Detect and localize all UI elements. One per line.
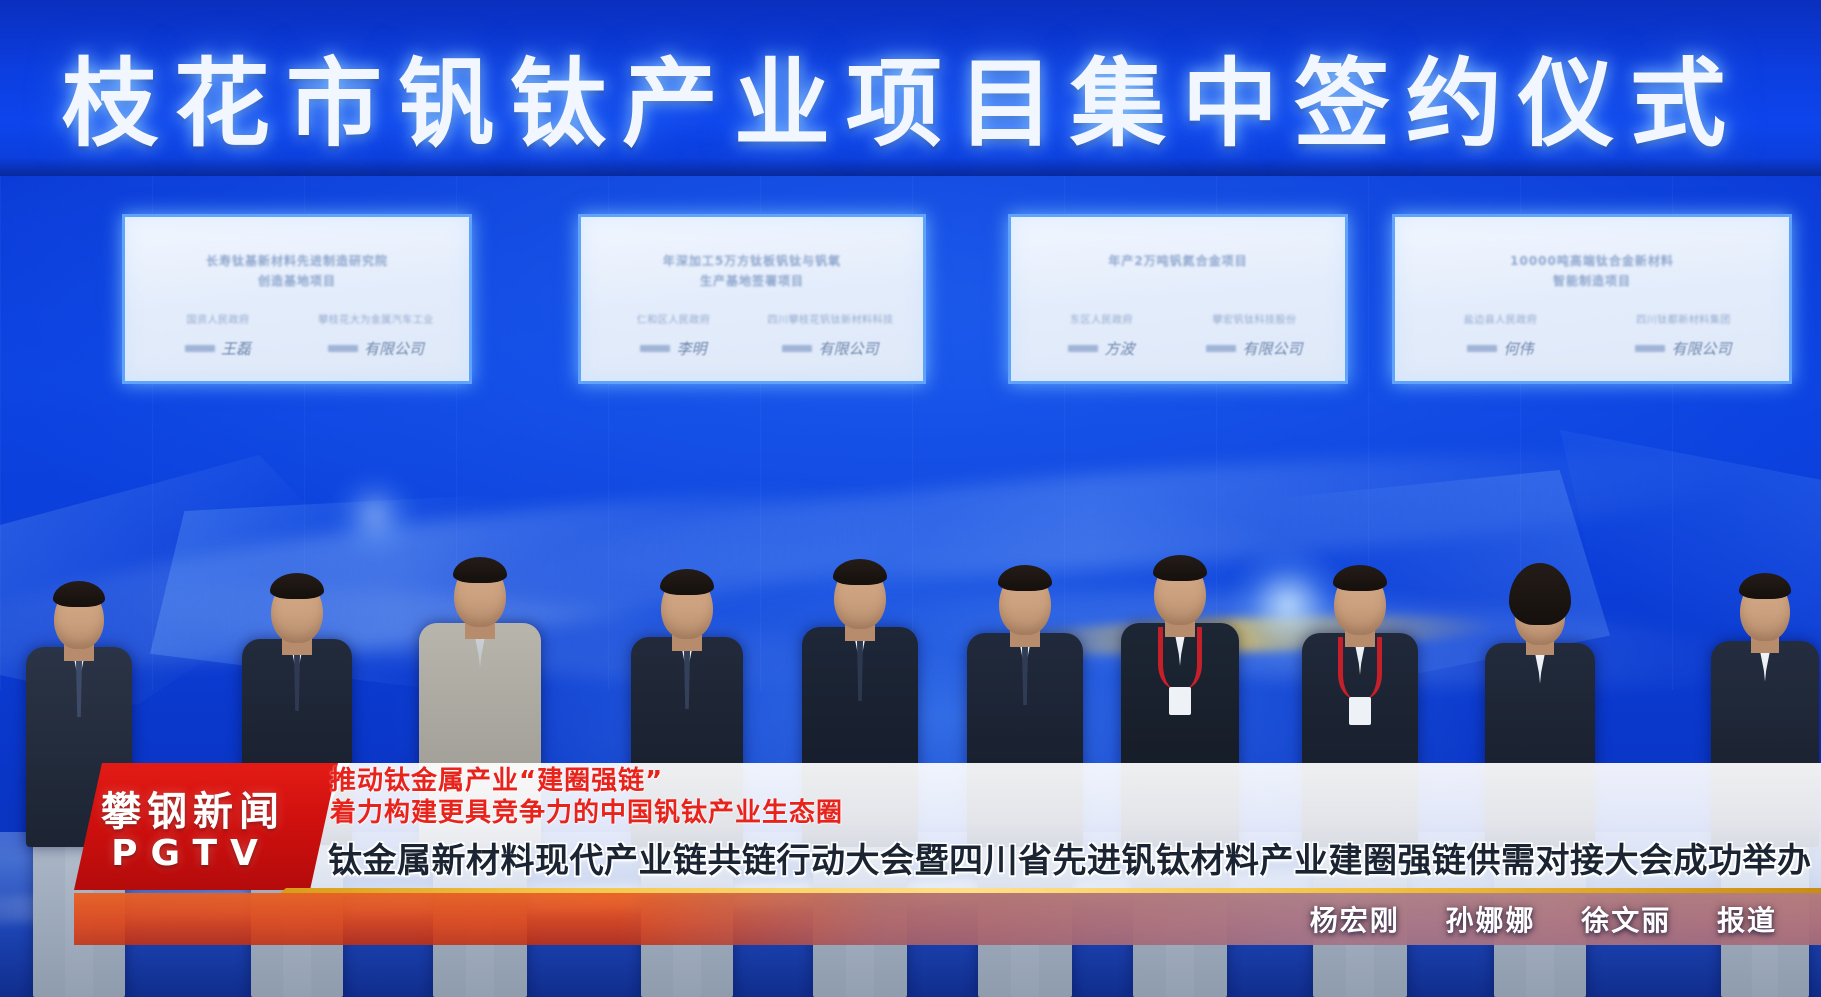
- certificate-party-left: 盐边县人民政府 何伟: [1420, 311, 1581, 359]
- participant-hair: [453, 557, 507, 583]
- kicker-line-2: 着力构建更具竞争力的中国钒钛产业生态圈: [330, 797, 1810, 829]
- participant-hair: [660, 569, 714, 595]
- certificate-party-left: 仁和区人民政府 李明: [604, 311, 742, 359]
- certificate-signatures: 仁和区人民政府 李明 四川攀枝花钒钛新材料科技 有限公司: [581, 311, 923, 359]
- certificate-title: 10000吨高端钛合金新材料 智能制造项目: [1395, 251, 1789, 291]
- participant-tie: [849, 639, 871, 701]
- broadcast-frame: 枝花市钒钛产业项目集中签约仪式 长寿钛基新材料先进制造研究院 创造基地项目 国资…: [0, 0, 1821, 997]
- participant-hair: [833, 559, 887, 585]
- certificate-party-right: 攀枝花大为金属汽车工业 有限公司: [306, 311, 445, 359]
- stamp-mark-icon: [1635, 345, 1665, 352]
- reporter-credits: 杨宏刚 孙娜娜 徐文丽 报道: [1310, 899, 1777, 939]
- stamp-mark-icon: [328, 345, 358, 352]
- stamp-mark-icon: [640, 345, 670, 352]
- participant-hair: [270, 573, 324, 599]
- participant-hair: [1509, 563, 1571, 625]
- certificate-party-left: 东区人民政府 方波: [1034, 311, 1169, 359]
- reporter-name-2: 孙娜娜: [1445, 904, 1535, 937]
- stage-banner-title: 枝花市钒钛产业项目集中签约仪式: [0, 26, 1821, 165]
- certificate-signatures: 东区人民政府 方波 攀宏钒钛科技股份 有限公司: [1011, 311, 1345, 359]
- stamp-mark-icon: [782, 345, 812, 352]
- name-badge: [1169, 687, 1191, 715]
- participant-hair: [998, 565, 1052, 591]
- certificate-board: 年产2万吨钒氮合金项目 东区人民政府 方波 攀宏钒钛科技股份 有限公司: [1008, 214, 1348, 384]
- certificate-title: 长寿钛基新材料先进制造研究院 创造基地项目: [125, 251, 469, 291]
- channel-brand-label: 攀钢新闻: [74, 779, 312, 837]
- certificate-party-right: 四川钛都新材料集团 有限公司: [1603, 311, 1764, 359]
- lower-third-graphic: 攀钢新闻 PGTV 推动钛金属产业“建圈强链” 着力构建更具竞争力的中国钒钛产业…: [0, 747, 1821, 997]
- stage-banner: 枝花市钒钛产业项目集中签约仪式: [0, 0, 1821, 176]
- participant-hair: [1333, 565, 1387, 591]
- stamp-mark-icon: [185, 345, 215, 352]
- participant-tie: [1014, 645, 1036, 705]
- certificate-party-left: 国资人民政府 王磊: [148, 311, 287, 359]
- certificate-title: 年产2万吨钒氮合金项目: [1011, 251, 1345, 271]
- certificate-board: 年深加工5万方钛板钒钛与钒氧 生产基地签署项目 仁和区人民政府 李明 四川攀枝花…: [578, 214, 926, 384]
- certificate-board: 长寿钛基新材料先进制造研究院 创造基地项目 国资人民政府 王磊 攀枝花大为金属汽…: [122, 214, 472, 384]
- stamp-mark-icon: [1206, 345, 1236, 352]
- certificate-party-right: 攀宏钒钛科技股份 有限公司: [1187, 311, 1322, 359]
- participant-tie: [676, 649, 698, 709]
- certificate-party-right: 四川攀枝花钒钛新材料科技 有限公司: [761, 311, 899, 359]
- participant-tie: [286, 651, 308, 711]
- certificate-signatures: 盐边县人民政府 何伟 四川钛都新材料集团 有限公司: [1395, 311, 1789, 359]
- certificate-signatures: 国资人民政府 王磊 攀枝花大为金属汽车工业 有限公司: [125, 311, 469, 359]
- certificate-board: 10000吨高端钛合金新材料 智能制造项目 盐边县人民政府 何伟 四川钛都新材料…: [1392, 214, 1792, 384]
- report-label: 报道: [1717, 904, 1777, 937]
- certificate-title: 年深加工5万方钛板钒钛与钒氧 生产基地签署项目: [581, 251, 923, 291]
- name-badge: [1349, 697, 1371, 725]
- reporter-name-3: 徐文丽: [1581, 904, 1671, 937]
- participant-hair: [1739, 573, 1791, 599]
- channel-callsign-label: PGTV: [74, 833, 308, 874]
- kicker-text: 推动钛金属产业“建圈强链” 着力构建更具竞争力的中国钒钛产业生态圈: [330, 765, 1810, 829]
- stamp-mark-icon: [1467, 345, 1497, 352]
- participant-hair: [53, 581, 105, 607]
- reporter-name-1: 杨宏刚: [1310, 904, 1400, 937]
- headline-text: 钛金属新材料现代产业链共链行动大会暨四川省先进钒钛材料产业建圈强链供需对接大会成…: [328, 833, 1818, 882]
- channel-logo-block: 攀钢新闻 PGTV: [74, 763, 338, 890]
- participant-hair: [1153, 555, 1207, 581]
- kicker-line-1: 推动钛金属产业“建圈强链”: [330, 765, 1810, 797]
- participant-tie: [68, 659, 90, 717]
- stamp-mark-icon: [1068, 345, 1098, 352]
